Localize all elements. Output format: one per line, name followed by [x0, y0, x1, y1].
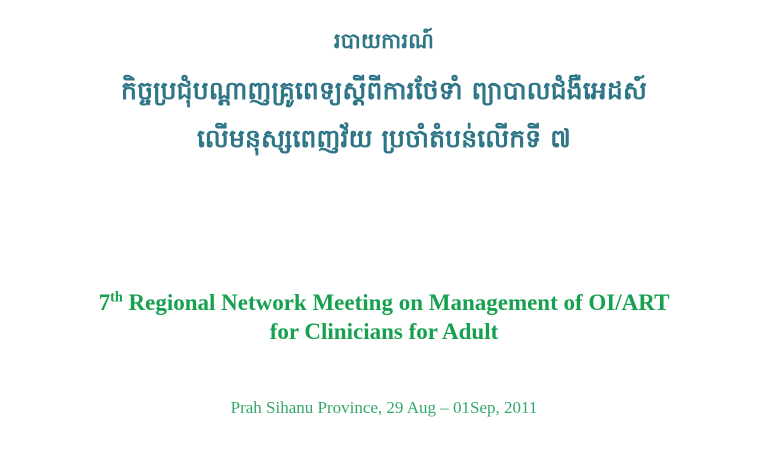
ordinal-number: 7: [99, 290, 111, 315]
title-slide: របាយការណ៍ កិច្ចប្រជុំបណ្តាញគ្រូពេទ្យស្តី…: [0, 0, 768, 464]
english-title-block: 7th Regional Network Meeting on Manageme…: [0, 288, 768, 346]
english-title-line-1-rest: Regional Network Meeting on Management o…: [123, 290, 670, 315]
khmer-title-line-2: កិច្ចប្រជុំបណ្តាញគ្រូពេទ្យស្តីពីការថែទាំ…: [0, 74, 768, 108]
ordinal-suffix: th: [110, 289, 123, 305]
venue-date-block: Prah Sihanu Province, 29 Aug – 01Sep, 20…: [0, 397, 768, 419]
english-title-line-1: 7th Regional Network Meeting on Manageme…: [0, 288, 768, 317]
venue-date-line: Prah Sihanu Province, 29 Aug – 01Sep, 20…: [0, 397, 768, 419]
khmer-title-line-1: របាយការណ៍: [0, 26, 768, 56]
khmer-title-block: របាយការណ៍ កិច្ចប្រជុំបណ្តាញគ្រូពេទ្យស្តី…: [0, 26, 768, 156]
khmer-title-line-3: លើមនុស្សពេញវ័យ ប្រចាំតំបន់លើកទី ៧: [0, 122, 768, 156]
english-title-line-2: for Clinicians for Adult: [0, 317, 768, 346]
